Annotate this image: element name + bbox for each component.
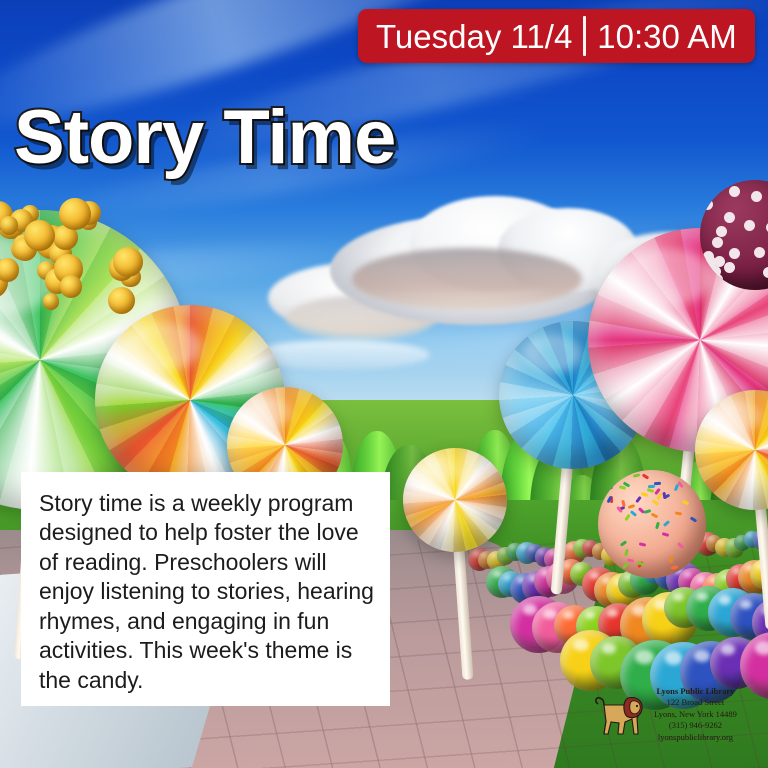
cloud xyxy=(352,248,582,310)
sprinkle xyxy=(621,500,625,507)
event-date: Tuesday 11/4 xyxy=(376,20,572,53)
library-address-block: Lyons Public Library 122 Broad Street Ly… xyxy=(654,686,737,743)
sprinkle xyxy=(638,543,645,547)
candy-bead xyxy=(0,216,18,234)
sprinkle xyxy=(663,492,667,499)
candy-bead xyxy=(0,258,19,282)
sprinkle xyxy=(656,522,661,530)
library-street: 122 Broad Street xyxy=(654,697,737,708)
lion-icon xyxy=(592,688,648,740)
candy-dot xyxy=(716,226,727,237)
sprinkle xyxy=(624,513,630,520)
banner-separator xyxy=(583,16,586,56)
page-title: Story Time xyxy=(14,100,395,176)
candy-bead xyxy=(59,198,91,230)
candy-dot xyxy=(712,237,723,248)
sprinkle-candy xyxy=(598,470,706,578)
candy-bead xyxy=(108,287,135,314)
sprinkle xyxy=(675,512,682,516)
candy-dot xyxy=(724,212,735,223)
candy-cluster xyxy=(0,185,160,315)
library-name: Lyons Public Library xyxy=(654,686,737,697)
sprinkle xyxy=(648,485,655,489)
sprinkle xyxy=(651,512,659,518)
sprinkle xyxy=(676,542,683,549)
sprinkle xyxy=(624,549,629,557)
sprinkle xyxy=(669,555,673,562)
library-city-state-zip: Lyons, New York 14489 xyxy=(654,709,737,720)
sprinkle xyxy=(641,473,649,479)
lollipop xyxy=(403,448,507,552)
lollipop-gloss xyxy=(523,334,582,372)
candy-dot xyxy=(729,186,740,197)
sprinkle xyxy=(628,504,636,509)
sprinkle xyxy=(620,540,627,546)
sprinkle xyxy=(690,516,698,522)
sprinkle xyxy=(629,510,636,517)
sprinkle xyxy=(646,488,654,493)
lollipop-gloss xyxy=(246,397,292,427)
candy-dot xyxy=(754,247,765,258)
candy-dot xyxy=(751,191,762,202)
library-footer: Lyons Public Library 122 Broad Street Ly… xyxy=(592,686,737,743)
sprinkle xyxy=(662,532,670,537)
sprinkle xyxy=(633,473,640,477)
description-box: Story time is a weekly program designed … xyxy=(21,472,390,706)
candy-dot xyxy=(702,199,713,210)
candy-bead xyxy=(43,293,60,310)
candy-dot xyxy=(706,257,717,268)
candy-dot xyxy=(763,267,768,278)
candy-dot xyxy=(729,248,740,259)
lollipop-gloss xyxy=(714,401,762,432)
sprinkle xyxy=(641,492,649,497)
candy-dot xyxy=(744,220,755,231)
event-time: 10:30 AM xyxy=(597,20,736,53)
sprinkle xyxy=(671,566,678,570)
sprinkle xyxy=(635,496,642,503)
library-website: lyonspubliclibrary.org xyxy=(654,732,737,743)
sprinkle xyxy=(644,509,652,514)
sprinkle xyxy=(682,500,690,506)
sprinkle xyxy=(663,520,670,527)
library-phone: (315) 946-9262 xyxy=(654,720,737,731)
date-time-banner: Tuesday 11/4 10:30 AM xyxy=(358,9,755,63)
description-text: Story time is a weekly program designed … xyxy=(39,489,374,695)
event-poster: Story Time Tuesday 11/4 10:30 AM Story t… xyxy=(0,0,768,768)
candy-dot xyxy=(724,262,735,273)
sprinkle xyxy=(622,562,629,569)
candy-bead xyxy=(60,275,82,297)
sprinkle xyxy=(618,486,626,491)
